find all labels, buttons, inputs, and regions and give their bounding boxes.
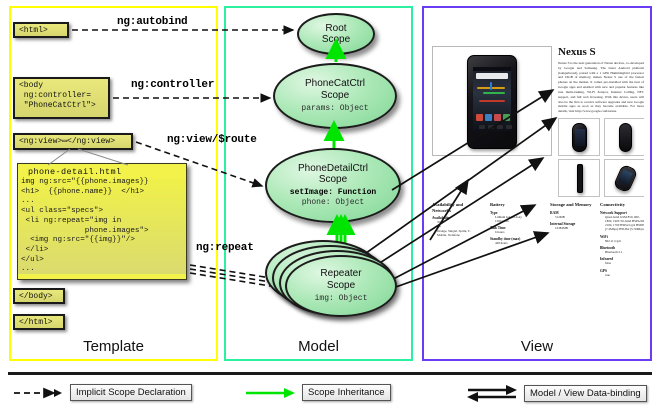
spec-value-battery-type-2: 1500 mAh — [490, 219, 544, 223]
hero-image-frame — [432, 46, 552, 156]
spec-value-standby: 428 hours — [490, 241, 544, 245]
rendered-view-page: Nexus S Nexus S is the next generation o… — [432, 16, 644, 336]
app-icon-2 — [485, 114, 492, 121]
scope-cat-prop-params: params: Object — [301, 104, 368, 113]
panel-view-label: View — [424, 338, 650, 355]
thumb-phone-back — [619, 123, 632, 152]
scope-detail-prop-phone: phone: Object — [302, 198, 364, 207]
spec-table: Availability and Networks Availability 3… — [432, 202, 644, 280]
scope-repeater: Repeater Scope img: Object — [285, 255, 397, 317]
spec-header-battery: Battery — [490, 202, 544, 208]
product-title: Nexus S — [558, 46, 596, 58]
spec-value-infrared: false — [600, 261, 644, 265]
spec-header-availability: Availability and Networks — [432, 202, 480, 213]
thumbnail-4[interactable] — [604, 159, 644, 197]
app-icon-3 — [494, 114, 501, 121]
scope-root-line1: Root — [325, 23, 346, 34]
label-ng-controller: ng:controller — [131, 79, 214, 91]
thumb-screen-4 — [618, 169, 632, 185]
nav-back-icon — [479, 125, 485, 129]
label-ng-autobind: ng:autobind — [117, 16, 187, 28]
legend-double-arrow-icon — [466, 384, 518, 402]
scope-detail-line1: PhoneDetailCtrl — [298, 163, 368, 174]
note-title: phone-detail.html — [18, 164, 186, 178]
wallpaper-line-3 — [479, 100, 505, 102]
legend-item-implicit-scope: Implicit Scope Declaration — [12, 384, 192, 401]
label-ng-repeat: ng:repeat — [196, 242, 254, 254]
product-description: Nexus S is the next generation of Nexus … — [558, 61, 644, 114]
scope-phonecatctrl: PhoneCatCtrl Scope params: Object — [273, 63, 397, 129]
note-code: img ng:src="{{phone.images}} <h1> {{phon… — [18, 178, 186, 274]
nav-search-icon — [506, 125, 512, 129]
scope-root-line2: Scope — [322, 34, 350, 45]
spec-column-storage: Storage and Memory RAM 512MB Internal St… — [550, 202, 596, 230]
scope-rep-line1: Repeater — [320, 268, 361, 279]
app-icon-1 — [476, 114, 483, 121]
legend-item-data-binding: Model / View Data-binding — [466, 384, 647, 402]
legend-divider — [8, 372, 652, 375]
legend-green-arrow-icon — [244, 386, 296, 400]
legend-label-data-binding: Model / View Data-binding — [524, 385, 647, 402]
tag-html-open: <html> — [13, 22, 69, 38]
tag-html-close: </html> — [13, 314, 65, 330]
nav-menu-icon — [488, 125, 494, 129]
legend-label-implicit-scope: Implicit Scope Declaration — [70, 384, 192, 401]
thumb-screen-1 — [575, 129, 585, 146]
phone-screen — [473, 67, 511, 131]
spec-column-battery: Battery Type Lithium Ion (Li-Ion) 1500 m… — [490, 202, 544, 246]
scope-detail-prop-setimage: setImage: Function — [290, 188, 376, 197]
tag-ngview: <ng:view>▭</ng:view> — [13, 133, 133, 150]
status-bar — [473, 67, 511, 71]
spec-value-ram: 512MB — [550, 215, 596, 219]
nav-buttons — [479, 125, 512, 129]
panel-model-label: Model — [226, 338, 411, 355]
spec-column-availability: Availability and Networks Availability 3… — [432, 202, 480, 237]
search-widget — [476, 73, 508, 79]
phone-detail-template-note: phone-detail.html img ng:src="{{phone.im… — [17, 163, 187, 280]
nav-home-icon — [497, 125, 503, 129]
panel-template-label: Template — [11, 338, 216, 355]
thumbnail-2[interactable] — [604, 118, 644, 156]
thumb-phone-front — [572, 123, 587, 152]
thumb-phone-angled — [613, 164, 639, 194]
tag-body-open: <body ng:controller= "PhoneCatCtrl"> — [13, 77, 110, 119]
legend: Implicit Scope Declaration Scope Inherit… — [0, 370, 660, 420]
spec-header-connectivity: Connectivity — [600, 202, 644, 208]
spec-value-wifi: 802.11 b/g/n — [600, 239, 644, 243]
spec-column-connectivity: Connectivity Network Support Quad-band G… — [600, 202, 644, 277]
spec-value-network-support: Quad-band GSM 850, 900, 1800, 1900 Tri-b… — [600, 215, 644, 232]
phone-hero-image — [467, 55, 517, 149]
spec-value-talk-time: 6 hours — [490, 230, 544, 234]
label-ng-view-route: ng:view/$route — [167, 134, 257, 146]
spec-value-availability-3: Orange, Singtel, Sprint, T-Mobile, Vodaf… — [432, 229, 480, 238]
scope-rep-line2: Scope — [327, 280, 355, 291]
scope-cat-line2: Scope — [321, 90, 349, 101]
scope-phonedetailctrl: PhoneDetailCtrl Scope setImage: Function… — [265, 148, 401, 223]
thumbnail-3[interactable] — [558, 159, 600, 197]
scope-cat-line1: PhoneCatCtrl — [305, 78, 365, 89]
wallpaper-line-4 — [490, 82, 492, 90]
legend-item-scope-inheritance: Scope Inheritance — [244, 384, 391, 401]
thumbnail-1[interactable] — [558, 118, 600, 156]
app-dock — [476, 114, 510, 121]
tag-body-close: </body> — [13, 288, 65, 304]
app-icon-4 — [503, 114, 510, 121]
scope-root: Root Scope — [297, 13, 375, 55]
spec-value-bluetooth: Bluetooth 2.1 — [600, 250, 644, 254]
spec-header-storage: Storage and Memory — [550, 202, 596, 208]
thumb-phone-side — [577, 164, 583, 193]
wallpaper-line-2 — [483, 92, 505, 94]
legend-dashed-arrow-icon — [12, 386, 64, 400]
diagram-root: Template <html> <body ng:controller= "Ph… — [0, 0, 660, 420]
spec-value-internal-storage: 16384MB — [550, 226, 596, 230]
spec-value-gps: true — [600, 273, 644, 277]
legend-label-scope-inheritance: Scope Inheritance — [302, 384, 391, 401]
scope-detail-line2: Scope — [319, 174, 347, 185]
scope-rep-prop-img: img: Object — [315, 294, 368, 303]
